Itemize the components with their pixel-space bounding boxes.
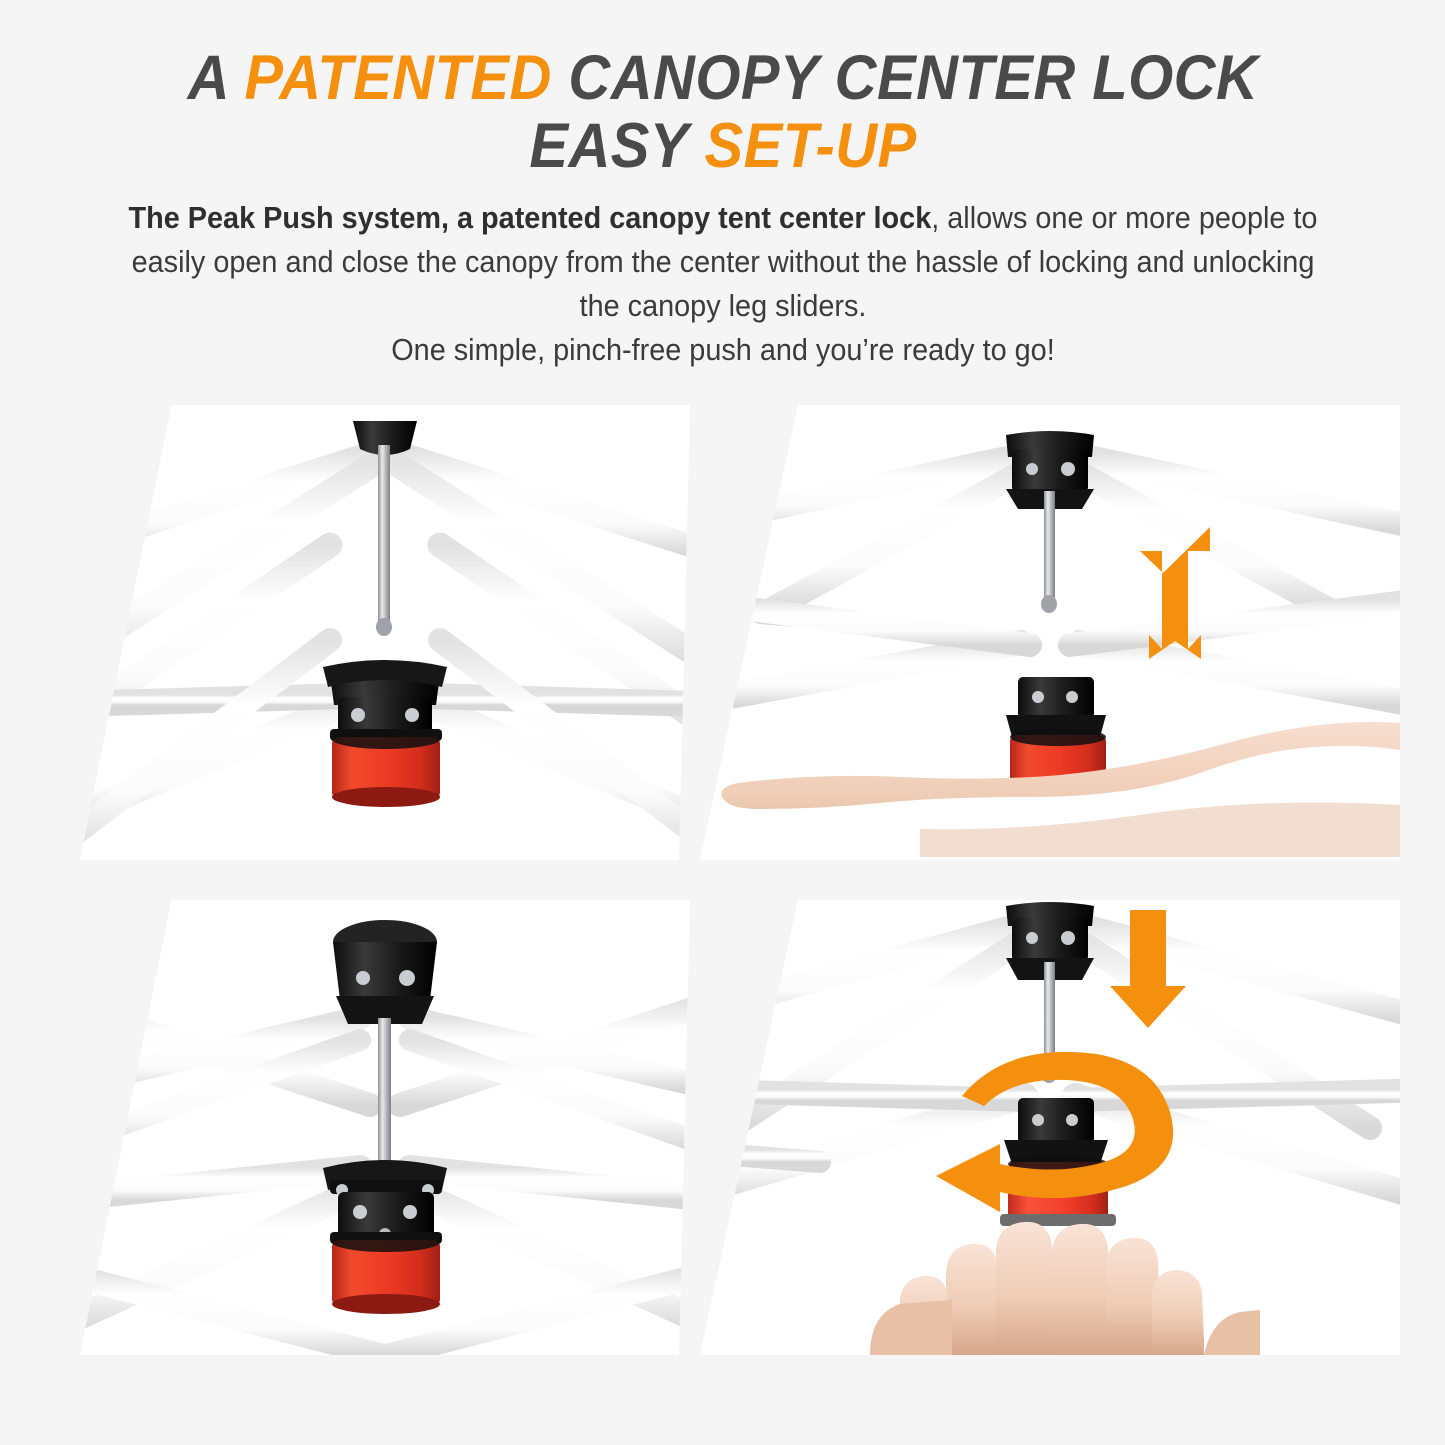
- center-lock-hub: [1004, 1098, 1108, 1164]
- title-part-a: A: [187, 43, 244, 113]
- title-part-easy: EASY: [529, 111, 704, 181]
- panel-top-right: Hand supporting the red center lock butt…: [700, 405, 1400, 860]
- title-accent-setup: SET-UP: [704, 111, 916, 181]
- push-up-to-open-illustration: [700, 405, 1400, 860]
- push-rod: [1044, 491, 1055, 601]
- panel-bottom-right: Two hands twisting the red center lock, …: [700, 900, 1400, 1355]
- center-lock-hub: [1006, 677, 1106, 737]
- center-lock-hub: [323, 660, 447, 741]
- title-line-2: EASY SET-UP: [143, 112, 1302, 180]
- push-rod: [378, 1018, 391, 1168]
- upper-hub: [333, 920, 437, 1024]
- canopy-frame-closed-illustration: [80, 405, 690, 860]
- twist-and-lower-to-close-illustration: [700, 900, 1400, 1355]
- photo-panel-grid: Canopy frame with center lock hub closed…: [0, 400, 1445, 1410]
- red-push-button: [332, 1232, 440, 1314]
- body-final-line: One simple, pinch-free push and you’re r…: [391, 332, 1054, 367]
- canopy-frame-open-illustration: [80, 900, 690, 1355]
- header: A PATENTED CANOPY CENTER LOCK EASY SET-U…: [0, 0, 1445, 372]
- push-rod: [378, 445, 390, 625]
- red-push-button: [332, 729, 440, 807]
- center-lock-hub: [323, 1160, 447, 1244]
- panel-top-left: Canopy frame with center lock hub closed…: [80, 405, 690, 860]
- page-title: A PATENTED CANOPY CENTER LOCK EASY SET-U…: [143, 44, 1302, 180]
- panel-bottom-left: Canopy frame fully open, upper hub and l…: [80, 900, 690, 1355]
- title-accent-patented: PATENTED: [244, 43, 551, 113]
- body-paragraph: The Peak Push system, a patented canopy …: [123, 196, 1323, 372]
- title-part-b: CANOPY CENTER LOCK: [551, 43, 1257, 113]
- body-bold-lead: The Peak Push system, a patented canopy …: [128, 200, 931, 235]
